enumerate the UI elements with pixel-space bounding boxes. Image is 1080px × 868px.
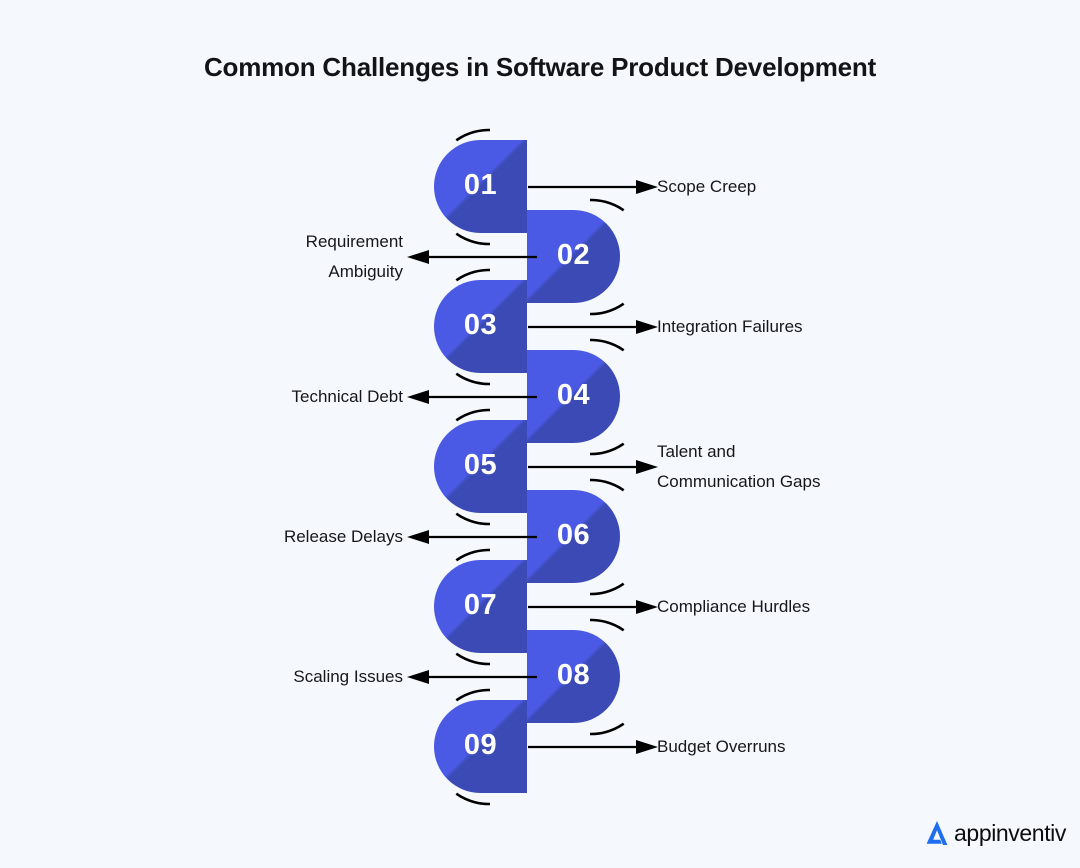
challenge-label-05: Talent and Communication Gaps bbox=[657, 437, 1037, 497]
challenge-label-04: Technical Debt bbox=[20, 382, 403, 412]
connector-arrow-01 bbox=[528, 177, 658, 197]
badge-number: 02 bbox=[557, 239, 590, 272]
appinventiv-wordmark: appinventiv bbox=[954, 820, 1066, 847]
badge-number: 07 bbox=[464, 589, 497, 622]
badge-number: 09 bbox=[464, 729, 497, 762]
challenge-badge-06: 06 bbox=[527, 490, 620, 583]
challenge-badge-01: 01 bbox=[434, 140, 527, 233]
connector-arrow-07 bbox=[528, 597, 658, 617]
badge-number: 04 bbox=[557, 379, 590, 412]
challenge-badge-03: 03 bbox=[434, 280, 527, 373]
challenge-badge-05: 05 bbox=[434, 420, 527, 513]
badge-number: 01 bbox=[464, 169, 497, 202]
badge-number: 08 bbox=[557, 659, 590, 692]
challenge-label-09: Budget Overruns bbox=[657, 732, 1037, 762]
connector-arrow-04 bbox=[407, 387, 537, 407]
challenge-badge-08: 08 bbox=[527, 630, 620, 723]
challenge-label-07: Compliance Hurdles bbox=[657, 592, 1037, 622]
connector-arrow-03 bbox=[528, 317, 658, 337]
challenges-zigzag-diagram: 01Scope Creep02Requirement Ambiguity03In… bbox=[0, 0, 1080, 868]
connector-arrow-05 bbox=[528, 457, 658, 477]
challenge-badge-07: 07 bbox=[434, 560, 527, 653]
challenge-badge-09: 09 bbox=[434, 700, 527, 793]
challenge-label-08: Scaling Issues bbox=[20, 662, 403, 692]
challenge-label-01: Scope Creep bbox=[657, 172, 1037, 202]
connector-arrow-06 bbox=[407, 527, 537, 547]
appinventiv-logo[interactable]: appinventiv bbox=[921, 810, 1066, 856]
badge-number: 06 bbox=[557, 519, 590, 552]
challenge-badge-02: 02 bbox=[527, 210, 620, 303]
connector-arrow-09 bbox=[528, 737, 658, 757]
challenge-label-02: Requirement Ambiguity bbox=[20, 227, 403, 287]
challenge-label-03: Integration Failures bbox=[657, 312, 1037, 342]
badge-number: 03 bbox=[464, 309, 497, 342]
connector-arrow-08 bbox=[407, 667, 537, 687]
connector-arrow-02 bbox=[407, 247, 537, 267]
appinventiv-a-mark-icon bbox=[921, 813, 953, 853]
challenge-badge-04: 04 bbox=[527, 350, 620, 443]
badge-number: 05 bbox=[464, 449, 497, 482]
challenge-label-06: Release Delays bbox=[20, 522, 403, 552]
